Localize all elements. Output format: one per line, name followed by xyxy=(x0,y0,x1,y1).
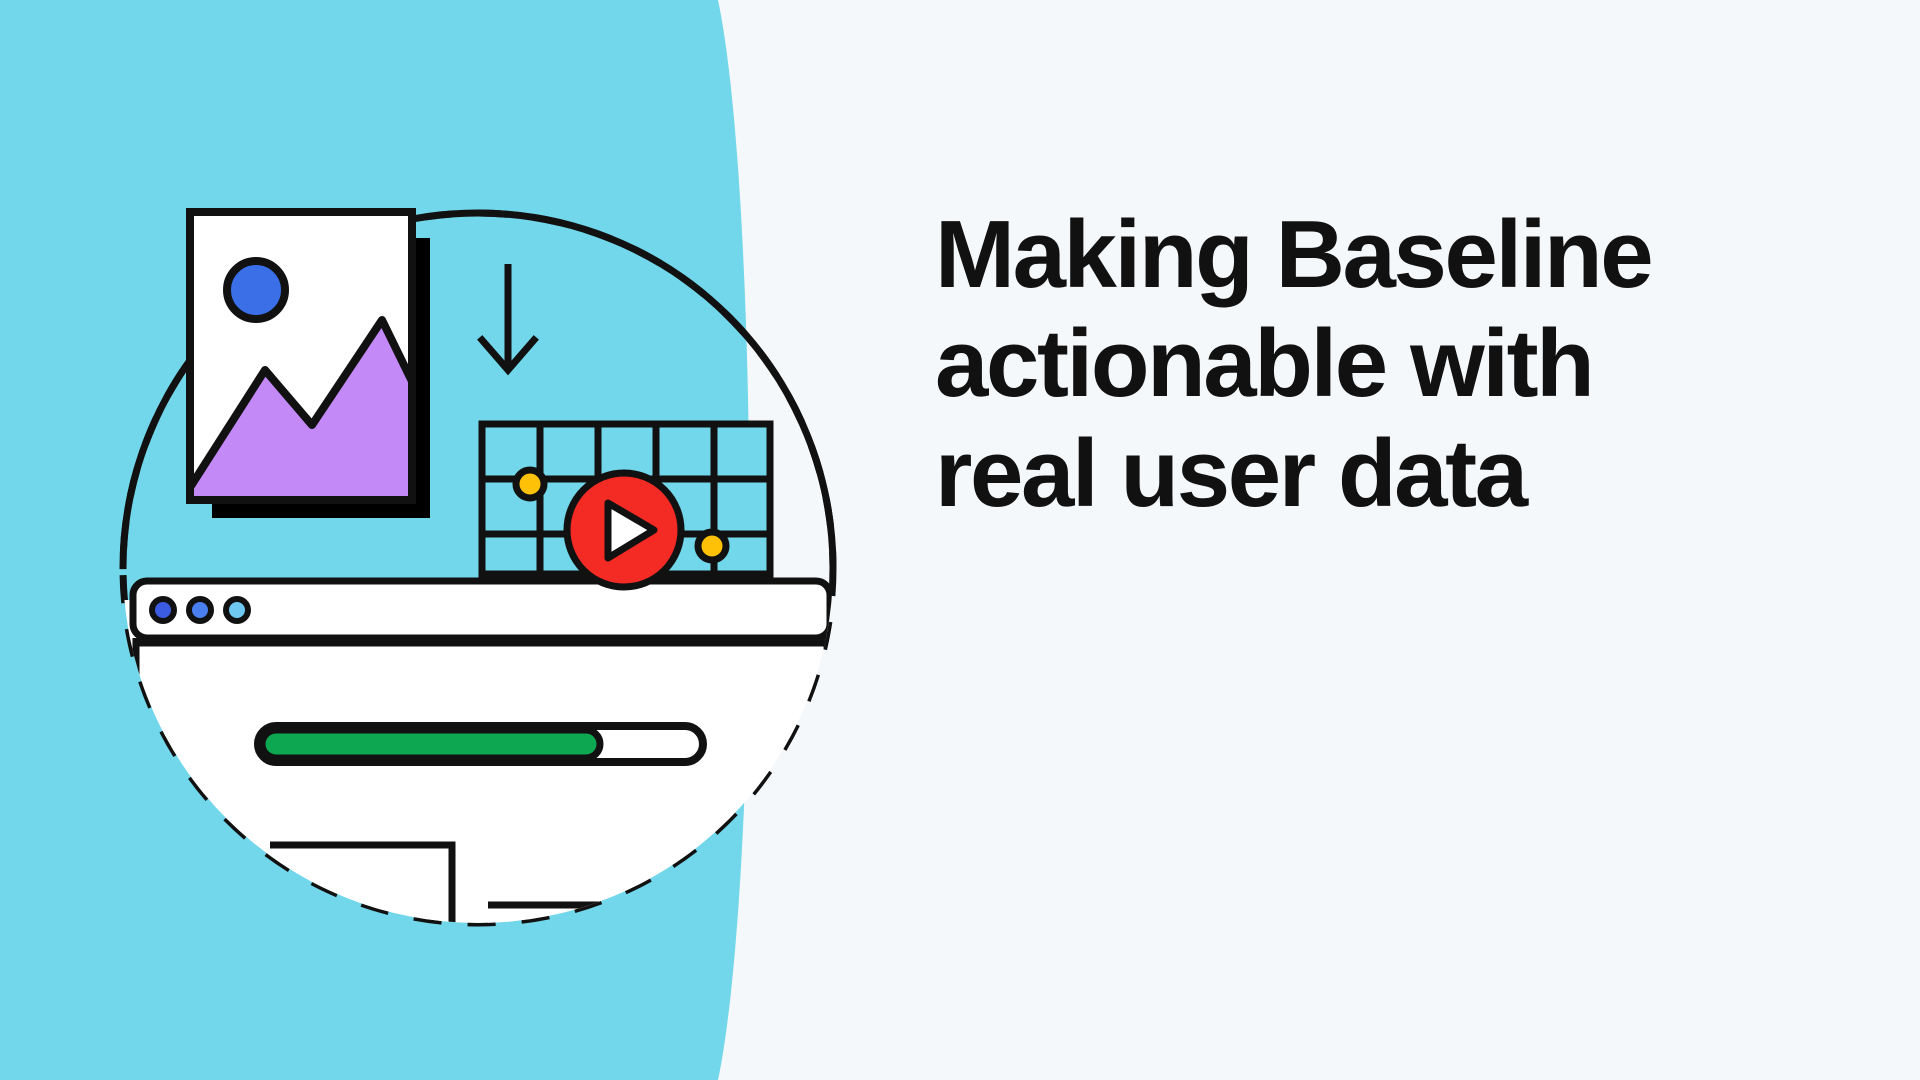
sun-circle-icon xyxy=(227,261,285,319)
window-dot-2-icon[interactable] xyxy=(189,599,211,621)
content-block-right xyxy=(488,905,600,975)
window-dot-1-icon[interactable] xyxy=(152,599,174,621)
hero-illustration xyxy=(0,0,900,1080)
progress-bar-fill xyxy=(262,730,600,758)
page-title: Making Baseline actionable with real use… xyxy=(935,200,1765,528)
content-block-left xyxy=(270,845,452,940)
slide-canvas: Making Baseline actionable with real use… xyxy=(0,0,1920,1080)
grid-node-2-icon[interactable] xyxy=(698,532,726,560)
video-grid-module xyxy=(482,424,770,587)
window-dot-3-icon[interactable] xyxy=(226,599,248,621)
grid-node-1-icon[interactable] xyxy=(516,470,544,498)
download-arrow-icon xyxy=(482,264,534,370)
image-placeholder-card xyxy=(182,212,470,518)
